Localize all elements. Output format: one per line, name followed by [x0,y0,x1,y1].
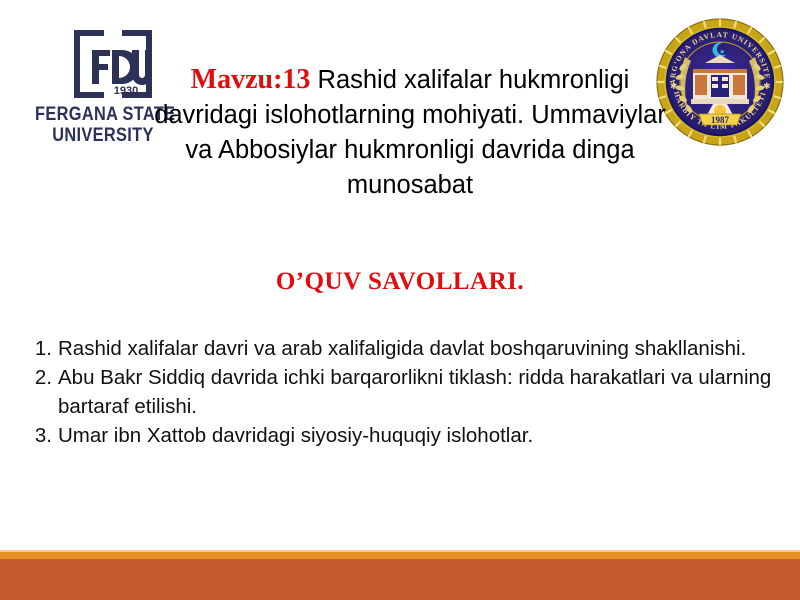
emblem-star-right: ✱ [763,81,771,91]
list-item-text: Abu Bakr Siddiq davrida ichki barqarorli… [58,366,771,418]
list-item: 1. Rashid xalifalar davri va arab xalifa… [22,334,778,363]
fdu-year-text: 1930 [114,85,138,97]
list-item: 2. Abu Bakr Siddiq davrida ichki barqaro… [22,363,778,421]
footer-bar [0,559,800,600]
section-heading: O’QUV SAVOLLARI. [0,268,800,296]
list-item: 3. Umar ibn Xattob davridagi siyosiy-huq… [22,421,778,450]
emblem-star-glyph: ★ [719,48,725,56]
list-item-number: 2. [28,363,52,392]
list-item-text: Rashid xalifalar davri va arab xalifalig… [58,337,746,360]
list-item-text: Umar ibn Xattob davridagi siyosiy-huquqi… [58,424,533,447]
question-list: 1. Rashid xalifalar davri va arab xalifa… [22,334,778,450]
slide-canvas: 1930 FERGANA STATE UNIVERSITY [0,0,800,600]
slide-title: Mavzu:13 Rashid xalifalar hukmronligi da… [140,62,680,203]
footer-accent-stripe [0,552,800,559]
emblem-year-banner: 1987 [699,114,741,125]
list-item-number: 3. [28,421,52,450]
title-topic-prefix: Mavzu:13 [191,64,311,95]
emblem-year-text: 1987 [711,115,730,125]
list-item-number: 1. [28,334,52,363]
